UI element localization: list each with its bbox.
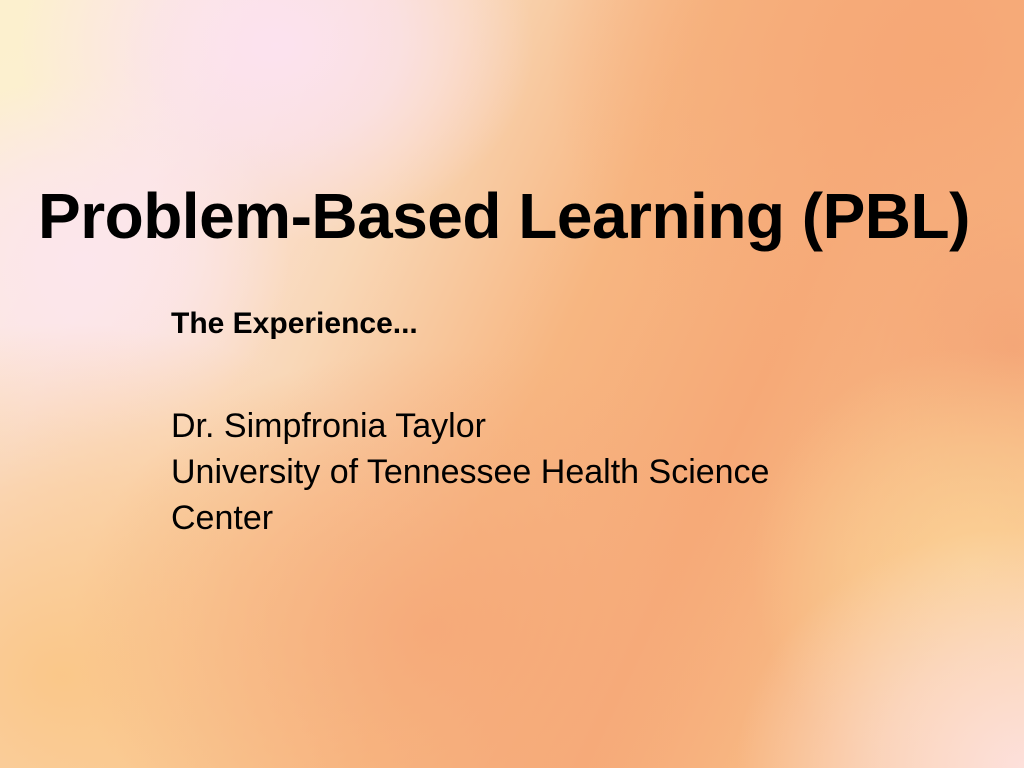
slide-title: Problem-Based Learning (PBL) bbox=[38, 183, 986, 250]
presenter-affiliation: University of Tennessee Health Science C… bbox=[171, 449, 871, 541]
slide-subtitle: The Experience... bbox=[171, 306, 871, 341]
presenter-credit-block: Dr. Simpfronia Taylor University of Tenn… bbox=[171, 403, 871, 541]
presenter-name: Dr. Simpfronia Taylor bbox=[171, 403, 871, 449]
presentation-slide: Problem-Based Learning (PBL) The Experie… bbox=[0, 0, 1024, 768]
slide-content: Problem-Based Learning (PBL) The Experie… bbox=[0, 0, 1024, 768]
slide-body-block: The Experience... Dr. Simpfronia Taylor … bbox=[171, 306, 871, 541]
